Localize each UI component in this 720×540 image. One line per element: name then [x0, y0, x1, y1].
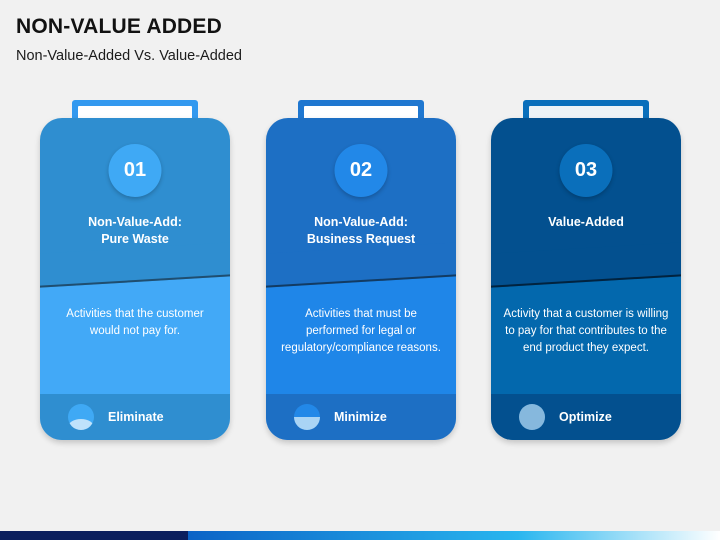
page-subtitle: Non-Value-Added Vs. Value-Added: [16, 46, 706, 66]
card-heading-line1-2: Non-Value-Add:: [276, 214, 446, 231]
card-description-2: Activities that must be performed for le…: [278, 306, 444, 357]
card-footer-1[interactable]: Eliminate: [40, 394, 230, 440]
bottom-bar-navy-block: [0, 531, 188, 540]
card-body-2[interactable]: 02 Non-Value-Add: Business Request Activ…: [266, 118, 456, 440]
card-footer-2[interactable]: Minimize: [266, 394, 456, 440]
card-3[interactable]: 03 Value-Added Activity that a customer …: [491, 100, 681, 440]
card-description-1: Activities that the customer would not p…: [52, 306, 218, 340]
card-divider-1: [40, 248, 230, 282]
card-number-badge-2: 02: [335, 144, 388, 197]
card-heading-line1-1: Non-Value-Add:: [50, 214, 220, 231]
card-footer-3[interactable]: Optimize: [491, 394, 681, 440]
bottom-decorative-bar: [0, 531, 720, 540]
page-title: NON-VALUE ADDED: [16, 14, 706, 40]
card-divider-3: [491, 248, 681, 282]
fill-level-low-icon-fill: [68, 419, 94, 430]
fill-level-low-icon: [68, 404, 94, 430]
card-heading-line1-3: Value-Added: [501, 214, 671, 231]
card-heading-3: Value-Added: [501, 214, 671, 231]
card-heading-line2-1: Pure Waste: [50, 231, 220, 248]
card-divider-2: [266, 248, 456, 282]
card-heading-2: Non-Value-Add: Business Request: [276, 214, 446, 248]
fill-level-full-icon: [519, 404, 545, 430]
card-divider-slash-3: [491, 242, 681, 288]
card-divider-slash-1: [40, 242, 230, 288]
card-body-1[interactable]: 01 Non-Value-Add: Pure Waste Activities …: [40, 118, 230, 440]
card-heading-line2-2: Business Request: [276, 231, 446, 248]
card-description-3: Activity that a customer is willing to p…: [503, 306, 669, 357]
card-divider-slash-2: [266, 242, 456, 288]
card-group: 01 Non-Value-Add: Pure Waste Activities …: [0, 100, 720, 445]
fill-level-half-icon-fill: [294, 417, 320, 430]
card-heading-1: Non-Value-Add: Pure Waste: [50, 214, 220, 248]
fill-level-full-icon-fill: [519, 404, 545, 430]
bottom-bar-gradient: [188, 531, 720, 540]
card-action-label-3: Optimize: [559, 410, 612, 424]
card-1[interactable]: 01 Non-Value-Add: Pure Waste Activities …: [40, 100, 230, 440]
fill-level-half-icon: [294, 404, 320, 430]
header: NON-VALUE ADDED Non-Value-Added Vs. Valu…: [16, 14, 706, 66]
card-number-badge-1: 01: [109, 144, 162, 197]
card-action-label-1: Eliminate: [108, 410, 164, 424]
card-2[interactable]: 02 Non-Value-Add: Business Request Activ…: [266, 100, 456, 440]
card-number-badge-3: 03: [560, 144, 613, 197]
card-action-label-2: Minimize: [334, 410, 387, 424]
card-body-3[interactable]: 03 Value-Added Activity that a customer …: [491, 118, 681, 440]
